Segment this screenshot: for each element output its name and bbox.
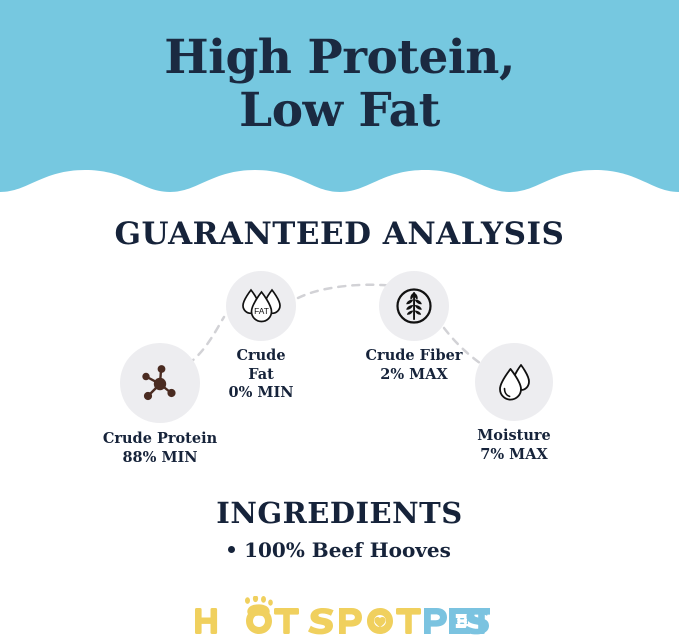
hero-title: High Protein, Low Fat bbox=[0, 32, 679, 137]
label-crude-fat-name-line-2: Fat bbox=[186, 366, 336, 385]
fat-droplets-icon: FAT bbox=[239, 285, 283, 327]
ingredient-text: 100% Beef Hooves bbox=[244, 538, 451, 562]
bubble-crude-fiber[interactable] bbox=[379, 271, 449, 341]
label-moisture-name: Moisture bbox=[439, 427, 589, 446]
hero-banner: High Protein, Low Fat bbox=[0, 0, 679, 206]
logo-word-pets bbox=[424, 608, 490, 634]
wave-divider bbox=[0, 162, 679, 206]
bubble-crude-fat[interactable]: FAT bbox=[226, 271, 296, 341]
label-moisture-value: 7% MAX bbox=[439, 446, 589, 465]
guaranteed-analysis-diagram: Crude Protein 88% MIN FAT Crude Fat 0% M… bbox=[0, 262, 679, 487]
logo-word-hotspot bbox=[195, 608, 421, 634]
label-crude-fat: Crude Fat 0% MIN bbox=[186, 347, 336, 403]
wheat-grain-icon bbox=[392, 284, 436, 328]
label-crude-protein-name: Crude Protein bbox=[55, 430, 265, 449]
hero-title-line-1: High Protein, bbox=[164, 30, 515, 85]
hero-title-line-2: Low Fat bbox=[0, 85, 679, 138]
fat-droplet-text: FAT bbox=[254, 306, 269, 316]
label-crude-fat-value: 0% MIN bbox=[186, 384, 336, 403]
label-moisture: Moisture 7% MAX bbox=[439, 427, 589, 464]
water-droplets-icon bbox=[492, 360, 536, 404]
label-crude-fiber-name: Crude Fiber bbox=[338, 347, 490, 366]
label-crude-protein-value: 88% MIN bbox=[55, 449, 265, 468]
bubble-moisture[interactable] bbox=[475, 343, 553, 421]
label-crude-fat-name-line-1: Crude bbox=[186, 347, 336, 366]
molecule-icon bbox=[137, 360, 183, 406]
label-crude-fiber: Crude Fiber 2% MAX bbox=[338, 347, 490, 384]
brand-logo[interactable] bbox=[0, 596, 679, 636]
ingredients-heading: INGREDIENTS bbox=[0, 496, 679, 530]
label-crude-protein: Crude Protein 88% MIN bbox=[55, 430, 265, 467]
guaranteed-analysis-heading: GUARANTEED ANALYSIS bbox=[0, 216, 679, 252]
ingredient-list-item: 100% Beef Hooves bbox=[0, 538, 679, 562]
bullet-icon bbox=[228, 546, 235, 553]
label-crude-fiber-value: 2% MAX bbox=[338, 366, 490, 385]
